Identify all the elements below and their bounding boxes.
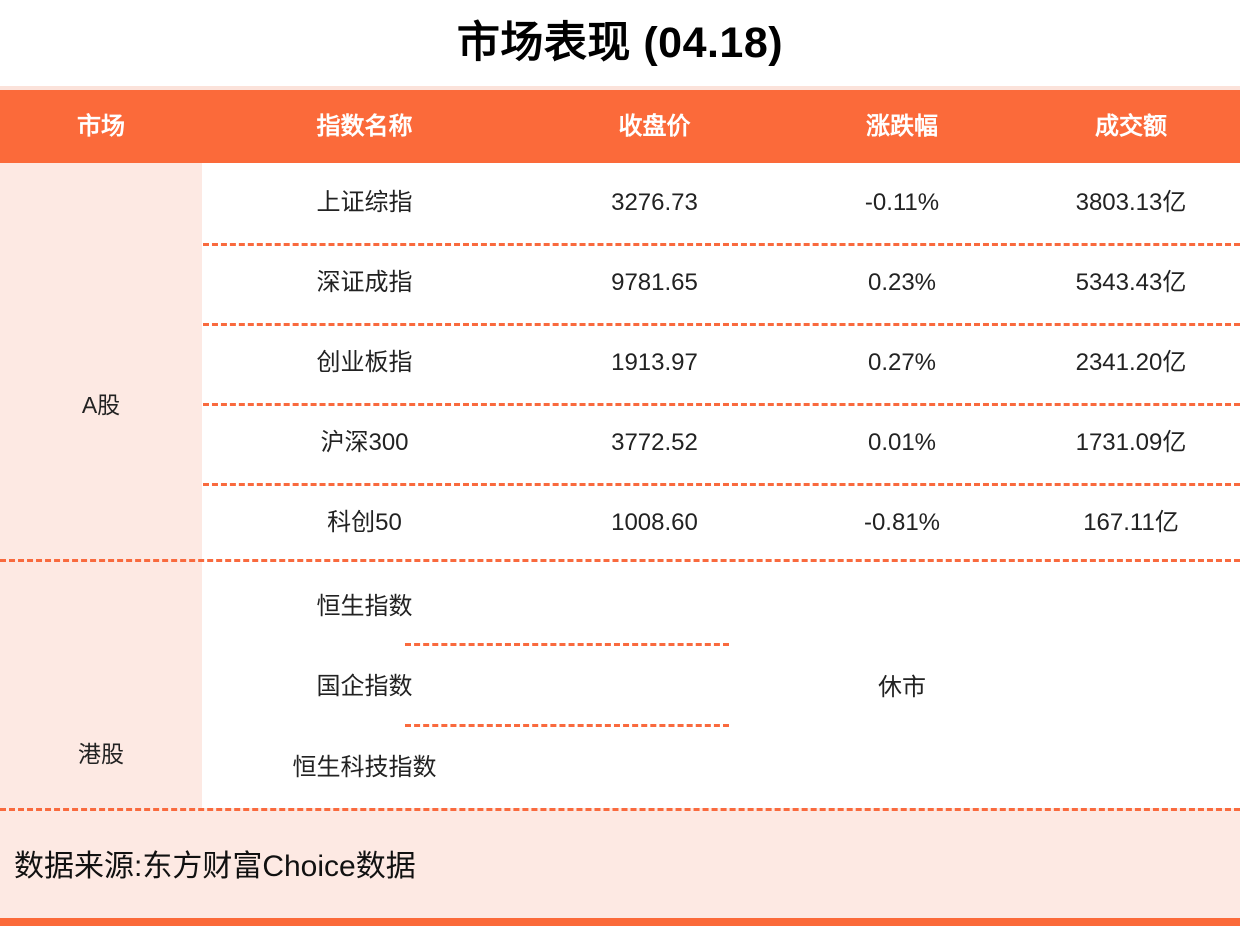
column-header-close-price: 收盘价 [527,115,782,139]
table-row[interactable]: 深证成指 9781.65 0.23% 5343.43亿 [0,243,1240,323]
column-header-index-name: 指数名称 [202,115,527,139]
group-separator [0,559,1240,562]
cell-turnover: 1731.09亿 [1022,431,1240,455]
cell-change-pct: -0.81% [782,511,1022,535]
cell-index-name: 恒生科技指数 [202,724,527,805]
cell-index-name: 国企指数 [202,644,527,725]
hk-index-name-list: 恒生指数 国企指数 恒生科技指数 [202,563,527,805]
table-header-row: 市场 指数名称 收盘价 涨跌幅 成交额 [0,90,1240,163]
table-row[interactable]: 创业板指 1913.97 0.27% 2341.20亿 [0,323,1240,403]
row-separator [203,403,1240,406]
table-body: A股 港股 上证综指 3276.73 -0.11% 3803.13亿 深证成指 … [0,163,1240,805]
column-header-change-pct: 涨跌幅 [782,115,1022,139]
cell-index-name: 上证综指 [202,191,527,215]
table-row[interactable]: 科创50 1008.60 -0.81% 167.11亿 [0,483,1240,563]
cell-close-price: 1008.60 [527,511,782,535]
cell-close-price: 1913.97 [527,351,782,375]
cell-index-name: 沪深300 [202,431,527,455]
page-title-bar: 市场表现 (04.18) [0,0,1240,86]
row-separator [203,243,1240,246]
market-group-label-hk-shares: 港股 [0,743,202,766]
column-header-turnover: 成交额 [1022,115,1240,139]
row-separator [203,323,1240,326]
cell-index-name: 创业板指 [202,351,527,375]
group-a-shares: 上证综指 3276.73 -0.11% 3803.13亿 深证成指 9781.6… [0,163,1240,563]
cell-close-price: 3772.52 [527,431,782,455]
table-row[interactable]: 上证综指 3276.73 -0.11% 3803.13亿 [0,163,1240,243]
row-separator [203,483,1240,486]
market-performance-card: 市场表现 (04.18) 市场 指数名称 收盘价 涨跌幅 成交额 A股 港股 上… [0,0,1240,926]
cell-turnover: 167.11亿 [1022,511,1240,535]
cell-index-name: 深证成指 [202,271,527,295]
cell-index-name: 科创50 [202,511,527,535]
cell-change-pct: 0.27% [782,351,1022,375]
cell-index-name: 恒生指数 [202,563,527,644]
cell-change-pct: 0.23% [782,271,1022,295]
cell-turnover: 5343.43亿 [1022,271,1240,295]
row-separator [405,643,729,646]
page-title: 市场表现 (04.18) [457,22,783,65]
cell-turnover: 2341.20亿 [1022,351,1240,375]
market-table: 市场 指数名称 收盘价 涨跌幅 成交额 A股 港股 上证综指 3276.73 -… [0,90,1240,805]
data-source-label: 数据来源:东方财富Choice数据 [14,852,416,882]
cell-close-price: 3276.73 [527,191,782,215]
footer-separator [0,808,1240,811]
cell-change-pct: -0.11% [782,191,1022,215]
market-group-label-a-shares: A股 [0,394,202,417]
cell-close-price: 9781.65 [527,271,782,295]
bottom-accent-bar [0,918,1240,926]
cell-turnover: 3803.13亿 [1022,191,1240,215]
cell-change-pct: 0.01% [782,431,1022,455]
column-header-market: 市场 [0,115,202,139]
footer: 数据来源:东方财富Choice数据 [0,808,1240,918]
group-hk-shares: 恒生指数 国企指数 恒生科技指数 休市 [0,563,1240,805]
status-badge-market-closed: 休市 [782,563,1022,805]
row-separator [405,724,729,727]
